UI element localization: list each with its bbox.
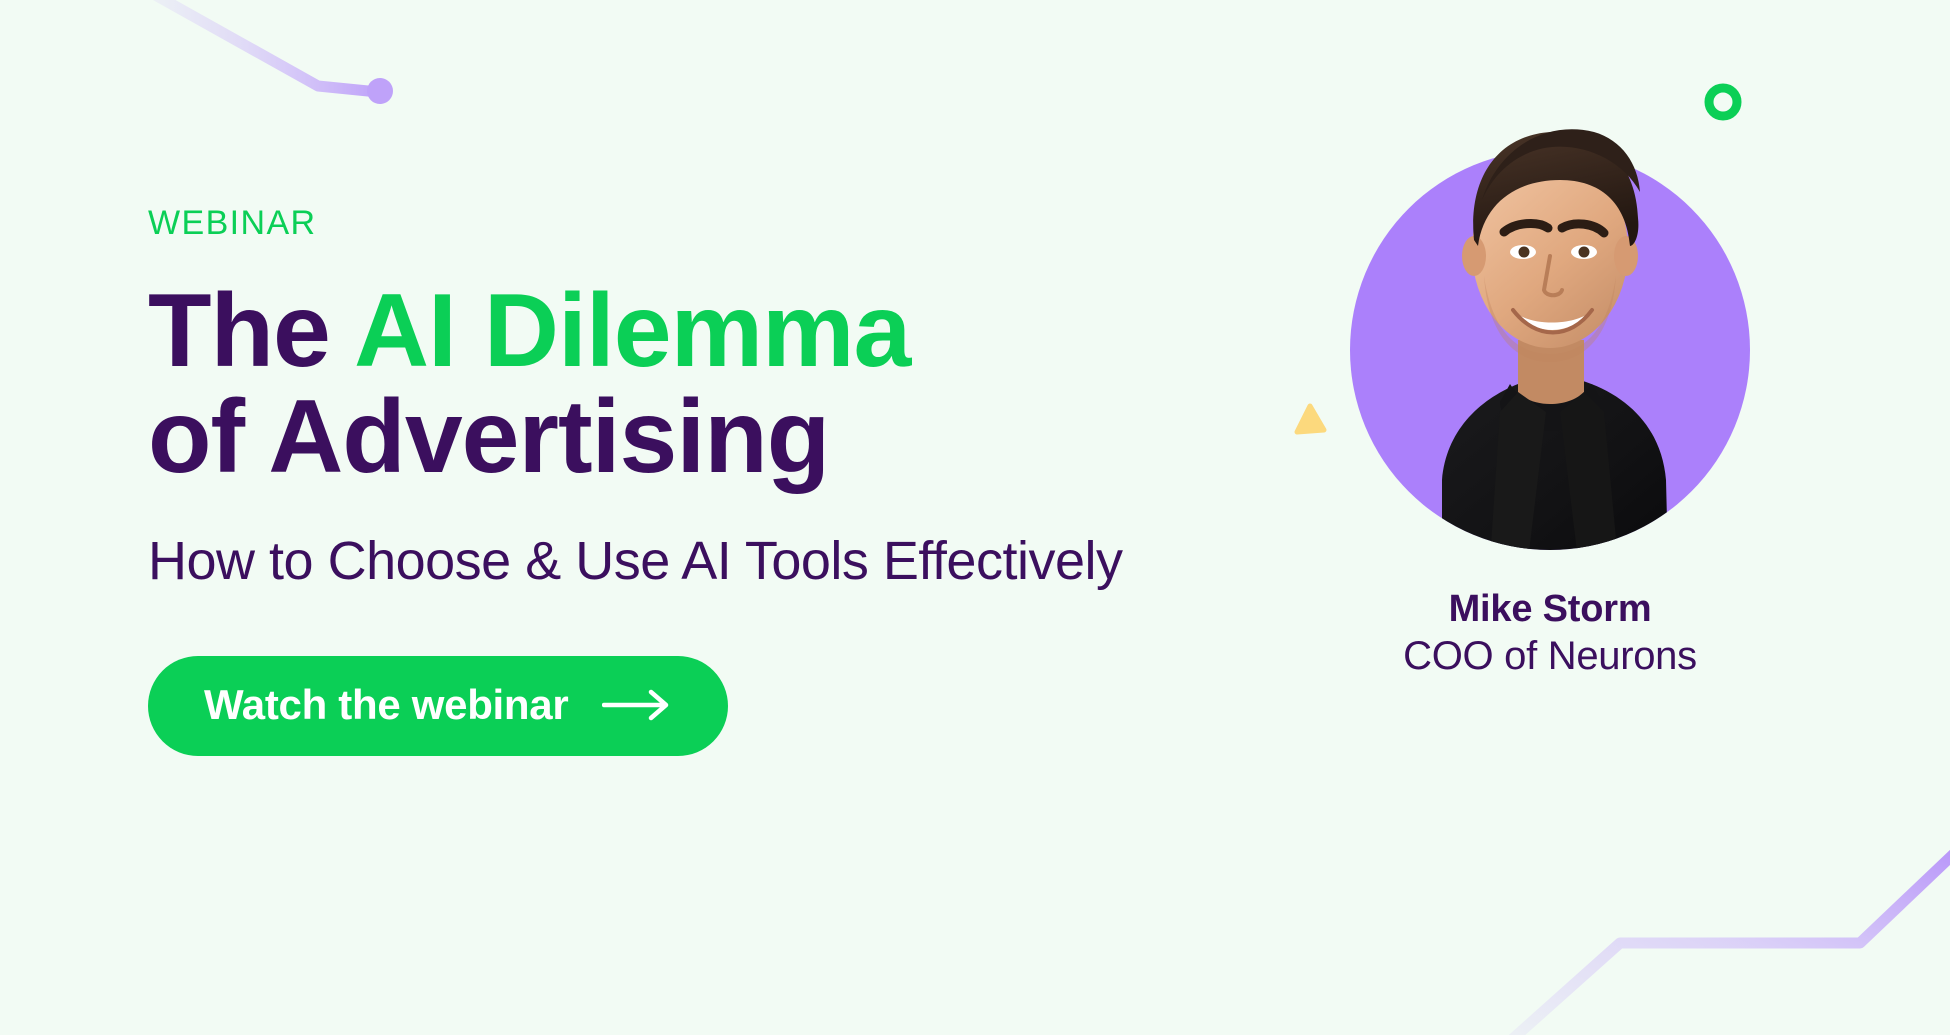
avatar (1350, 150, 1750, 550)
webinar-promo-banner: WEBINAR The AI Dilemma of Advertising Ho… (0, 0, 1950, 1035)
headline-accent: AI Dilemma (354, 273, 910, 389)
headline-prefix: The (148, 273, 354, 389)
lilac-elbow-line-top-left-icon (132, 0, 393, 104)
arrow-right-icon (602, 688, 672, 722)
subheadline: How to Choose & Use AI Tools Effectively (148, 530, 1328, 592)
speaker-name: Mike Storm (1340, 586, 1760, 632)
page-title: The AI Dilemma of Advertising (148, 278, 1328, 490)
speaker-block: Mike Storm COO of Neurons (1340, 150, 1760, 681)
cta-label: Watch the webinar (204, 684, 568, 726)
promo-copy-block: WEBINAR The AI Dilemma of Advertising Ho… (148, 206, 1328, 756)
speaker-meta: Mike Storm COO of Neurons (1340, 586, 1760, 681)
lilac-zigzag-line-bottom-right-icon (1498, 846, 1950, 1035)
eyebrow-label: WEBINAR (148, 206, 1328, 240)
speaker-photo (1350, 40, 1750, 560)
lilac-filled-dot-icon (367, 78, 393, 104)
speaker-role: COO of Neurons (1340, 632, 1760, 681)
headline-line-2: of Advertising (148, 384, 1328, 490)
watch-the-webinar-button[interactable]: Watch the webinar (148, 656, 728, 756)
